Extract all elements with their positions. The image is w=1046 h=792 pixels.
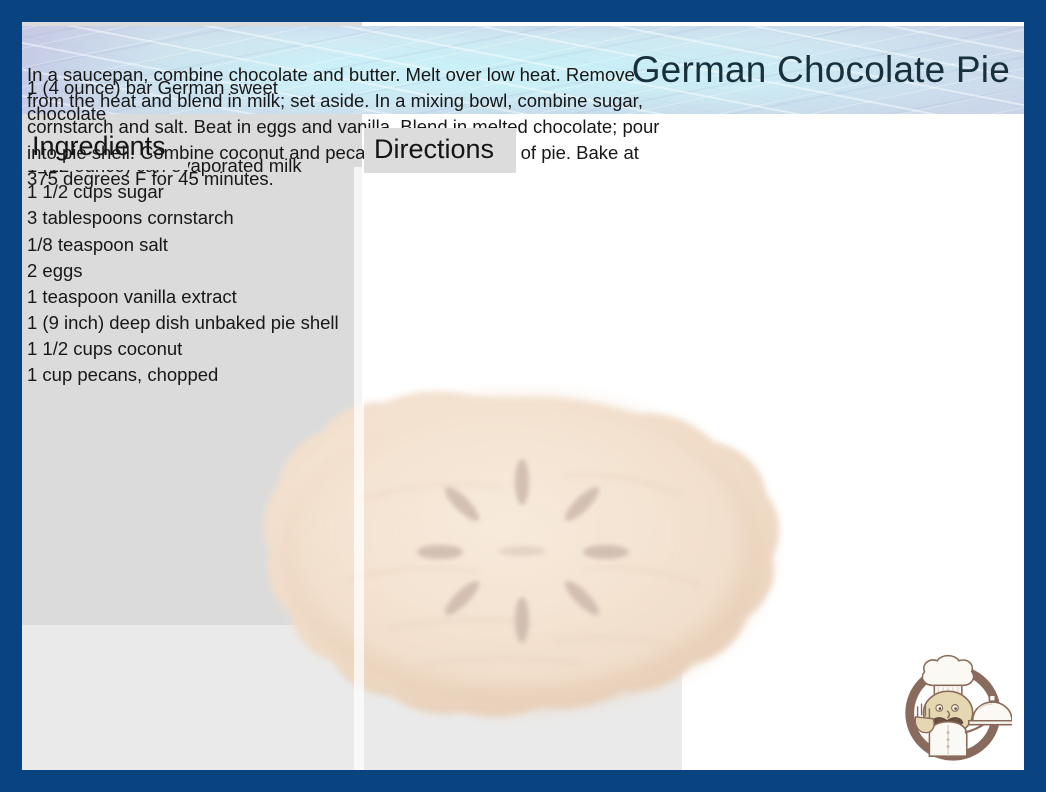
recipe-card: German Chocolate Pie 1 (4 ounce) bar Ger… xyxy=(0,0,1046,792)
directions-heading: Directions xyxy=(364,128,516,173)
recipe-card-inner: German Chocolate Pie 1 (4 ounce) bar Ger… xyxy=(22,22,1024,770)
directions-panel: In a saucepan, combine chocolate and but… xyxy=(22,625,682,770)
list-item: 3 tablespoons cornstarch xyxy=(27,205,357,231)
list-item: 1 teaspoon vanilla extract xyxy=(27,284,357,310)
panel-divider xyxy=(354,167,364,770)
list-item: 2 eggs xyxy=(27,258,357,284)
list-item: 1 1/2 cups coconut xyxy=(27,336,357,362)
page-title: German Chocolate Pie xyxy=(632,49,1010,91)
directions-body: In a saucepan, combine chocolate and but… xyxy=(27,62,665,192)
list-item: 1/8 teaspoon salt xyxy=(27,232,357,258)
list-item: 1 (9 inch) deep dish unbaked pie shell xyxy=(27,310,357,336)
list-item: 1 cup pecans, chopped xyxy=(27,362,357,388)
chef-mascot-logo xyxy=(894,648,1012,766)
